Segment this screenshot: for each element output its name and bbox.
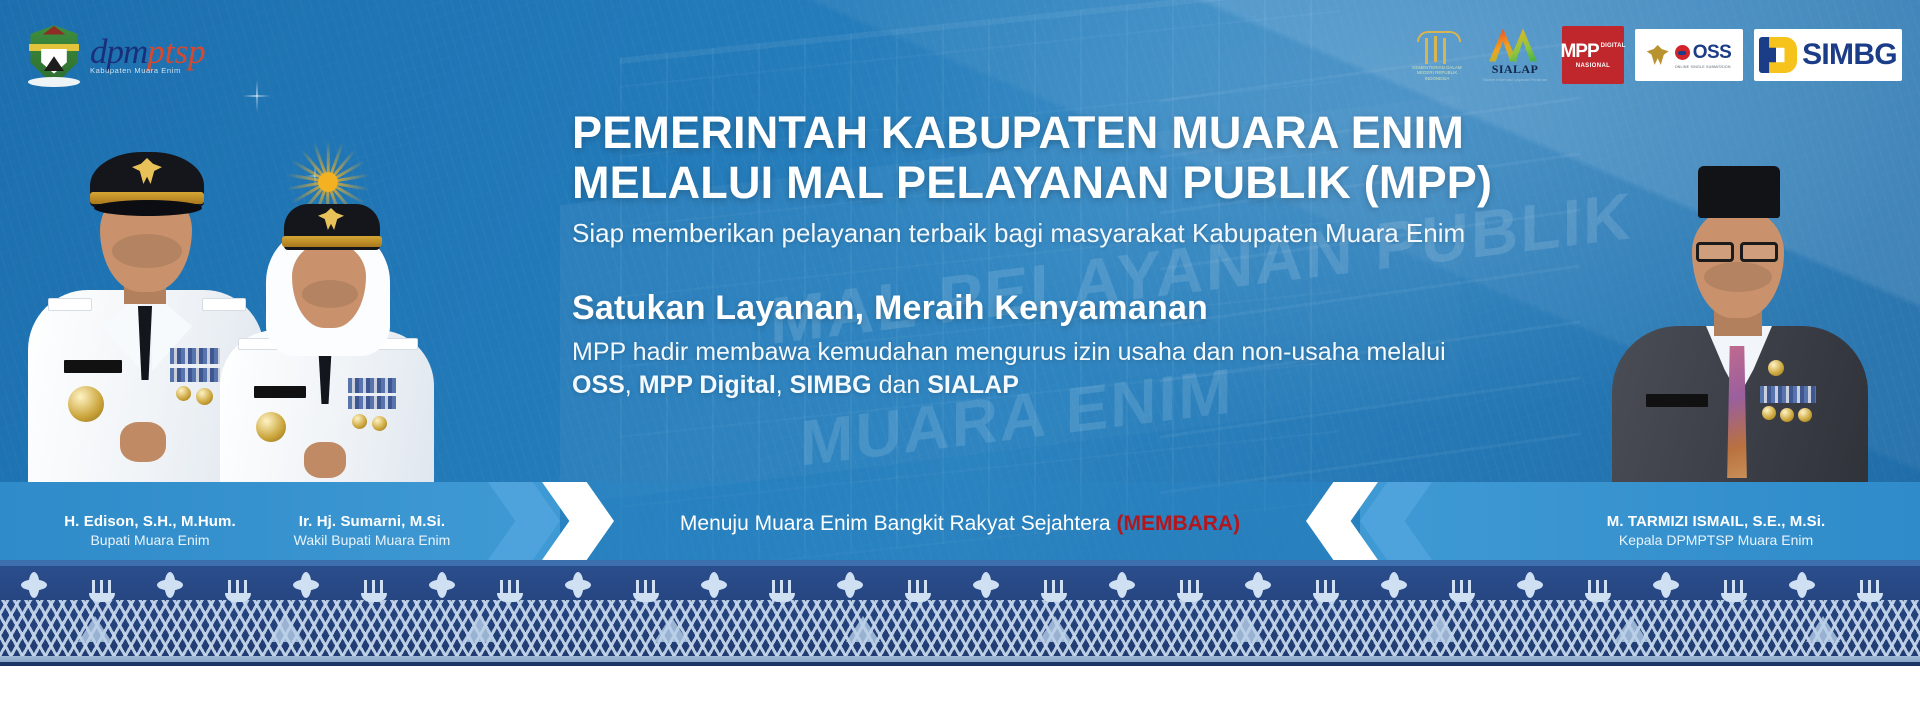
sialap-caption: Sistem Informasi Layanan Perizinan: [1483, 77, 1547, 82]
name-tag: [64, 360, 122, 373]
eyeglasses-icon: [1696, 242, 1734, 262]
ship-motif-icon: [1700, 568, 1768, 602]
peci-cap: [1698, 166, 1780, 218]
cheek-shading: [112, 234, 182, 268]
tagline-title: Satukan Layanan, Meraih Kenyamanan: [572, 289, 1592, 328]
ship-motif-icon: [612, 568, 680, 602]
flower-motif-icon: [408, 568, 476, 602]
regional-motto: Menuju Muara Enim Bangkit Rakyat Sejahte…: [0, 512, 1920, 536]
service-ribbon: [1760, 386, 1816, 403]
headline-line-1: PEMERINTAH KABUPATEN MUARA ENIM: [572, 108, 1592, 158]
ceremonial-badge: [256, 412, 286, 442]
oss-label: OSS: [1693, 42, 1732, 64]
ship-motif-icon: [1564, 568, 1632, 602]
ship-motif-icon: [68, 568, 136, 602]
mpp-caption: NASIONAL: [1576, 63, 1611, 69]
songket-bottom-edge: [0, 662, 1920, 666]
ship-motif-icon: [884, 568, 952, 602]
medal-icon: [1780, 408, 1794, 422]
kemendagri-emblem-icon: [1414, 29, 1460, 63]
sialap-label: SIALAP: [1492, 62, 1538, 77]
name-tag: [1646, 394, 1708, 407]
ship-motif-icon: [1836, 568, 1904, 602]
mpp-sup-label: DIGITAL: [1601, 43, 1626, 49]
separator: ,: [776, 371, 790, 399]
mpp-label: MPP: [1560, 42, 1598, 61]
medal-icon: [352, 414, 367, 429]
oss-text-block: OSS ONLINE SINGLE SUBMISSION: [1675, 42, 1732, 69]
ship-motif-icon: [1156, 568, 1224, 602]
motto-acronym: (MEMBARA): [1116, 512, 1240, 535]
tagline-body-text: MPP hadir membawa kemudahan mengurus izi…: [572, 338, 1446, 366]
songket-triangle-row: [0, 604, 1920, 650]
dpmptsp-wordmark: dpmptsp Kabupaten Muara Enim: [90, 32, 206, 78]
headline-block: PEMERINTAH KABUPATEN MUARA ENIM MELALUI …: [572, 108, 1592, 402]
songket-pattern-border: [0, 560, 1920, 665]
service-ribbon: [348, 378, 396, 393]
cap-band: [282, 236, 382, 247]
photo-kepala-dpmptsp: [1610, 150, 1870, 510]
banner-background: MAL PELAYANAN PUBLIK MUARA ENIM: [0, 0, 1920, 560]
lapel-pin-icon: [1768, 360, 1784, 376]
separator: ,: [625, 371, 639, 399]
service-oss: OSS: [572, 371, 625, 399]
flower-motif-icon: [136, 568, 204, 602]
shoulder-board: [48, 298, 92, 311]
flower-motif-icon: [680, 568, 748, 602]
simbg-label: SIMBG: [1802, 38, 1897, 72]
service-sialap: SIALAP: [927, 371, 1019, 399]
mpp-promotional-banner: MAL PELAYANAN PUBLIK MUARA ENIM: [0, 0, 1920, 720]
flower-motif-icon: [1360, 568, 1428, 602]
ship-motif-icon: [204, 568, 272, 602]
eyeglasses-icon: [1740, 242, 1778, 262]
logo-mpp-digital[interactable]: MPP DIGITAL NASIONAL: [1562, 26, 1624, 84]
flower-motif-icon: [1768, 568, 1836, 602]
cheek-shading: [1704, 262, 1772, 292]
conjunction: dan: [872, 371, 928, 399]
photo-wakil-bupati: [210, 180, 440, 510]
logo-kemendagri-emblem[interactable]: KEMENTERIAN DALAM NEGERI REPUBLIK INDONE…: [1406, 25, 1468, 85]
flower-motif-icon: [1632, 568, 1700, 602]
flower-motif-icon: [1496, 568, 1564, 602]
service-simbg: SIMBG: [790, 371, 872, 399]
headline-subtitle: Siap memberikan pelayanan terbaik bagi m…: [572, 218, 1592, 249]
logo-simbg[interactable]: SIMBG: [1754, 29, 1902, 81]
flower-motif-icon: [952, 568, 1020, 602]
flower-motif-icon: [544, 568, 612, 602]
sialap-mark-icon: [1489, 29, 1541, 62]
ship-motif-icon: [476, 568, 544, 602]
medal-icon: [372, 416, 387, 431]
ship-motif-icon: [1428, 568, 1496, 602]
songket-top-edge: [0, 560, 1920, 566]
cheek-shading: [302, 280, 358, 308]
partner-logo-row: KEMENTERIAN DALAM NEGERI REPUBLIK INDONE…: [1406, 24, 1902, 86]
oss-dot-icon: [1675, 45, 1690, 60]
hand: [120, 422, 166, 462]
service-ribbon: [348, 396, 396, 409]
cap-brim: [94, 200, 202, 216]
dpmptsp-logo[interactable]: dpmptsp Kabupaten Muara Enim: [26, 22, 276, 88]
muara-enim-crest-icon: [26, 24, 82, 86]
garuda-emblem-icon: [1647, 45, 1669, 65]
wordmark-ptsp: ptsp: [147, 50, 205, 67]
footer-bar: H. Edison, S.H., M.Hum. Bupati Muara Eni…: [0, 482, 1920, 560]
songket-motif-row: [0, 568, 1920, 602]
hand: [304, 442, 346, 478]
flower-motif-icon: [0, 568, 68, 602]
flower-motif-icon: [272, 568, 340, 602]
logo-oss[interactable]: OSS ONLINE SINGLE SUBMISSION: [1635, 29, 1743, 81]
medal-icon: [176, 386, 191, 401]
medal-icon: [1798, 408, 1812, 422]
officials-photo-left: [10, 120, 460, 510]
oss-wordmark: OSS: [1675, 42, 1732, 64]
ship-motif-icon: [748, 568, 816, 602]
simbg-mark-icon: [1759, 37, 1797, 73]
service-mpp-digital: MPP Digital: [639, 371, 776, 399]
medal-icon: [1762, 406, 1776, 420]
name-tag: [254, 386, 306, 398]
mpp-label-row: MPP DIGITAL: [1560, 42, 1625, 61]
flower-motif-icon: [816, 568, 884, 602]
headline-line-2: MELALUI MAL PELAYANAN PUBLIK (MPP): [572, 158, 1592, 208]
motto-text: Menuju Muara Enim Bangkit Rakyat Sejahte…: [680, 512, 1117, 535]
ship-motif-icon: [340, 568, 408, 602]
flower-motif-icon: [1088, 568, 1156, 602]
kemendagri-caption: KEMENTERIAN DALAM NEGERI REPUBLIK INDONE…: [1406, 65, 1468, 82]
flower-motif-icon: [1224, 568, 1292, 602]
oss-caption: ONLINE SINGLE SUBMISSION: [1675, 65, 1731, 69]
ship-motif-icon: [1292, 568, 1360, 602]
officials-photo-right: [1590, 150, 1890, 510]
tagline-body: MPP hadir membawa kemudahan mengurus izi…: [572, 336, 1592, 402]
ceremonial-badge: [68, 386, 104, 422]
ship-motif-icon: [1020, 568, 1088, 602]
logo-sialap[interactable]: SIALAP Sistem Informasi Layanan Perizina…: [1479, 25, 1551, 85]
